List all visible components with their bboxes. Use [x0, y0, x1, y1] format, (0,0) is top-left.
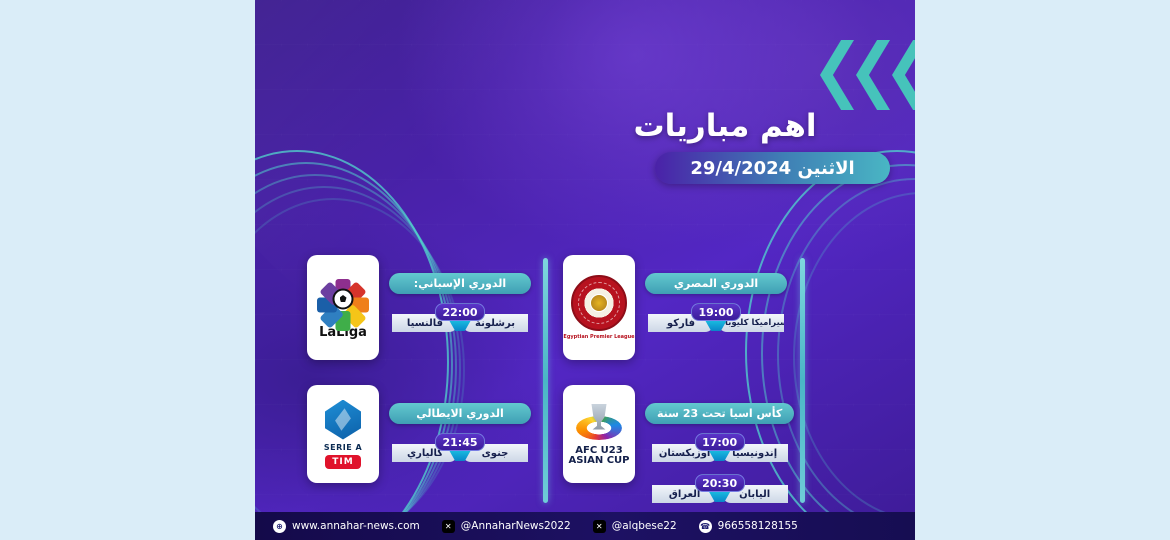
match-block-serie-a: الدوري الايطالي 21:45 جنوى كالياري — [389, 385, 531, 463]
match-block-laliga: الدوري الإسباني: 22:00 برشلونة فالنسيا — [389, 255, 531, 333]
match-time: 17:00 — [695, 433, 745, 451]
chevron-left-decoration — [820, 40, 915, 110]
x-twitter-icon: ✕ — [593, 520, 606, 533]
twitter-handle-1: @AnnaharNews2022 — [461, 520, 571, 532]
match-time: 22:00 — [435, 303, 485, 321]
twitter-handle-2: @alqbese22 — [612, 520, 677, 532]
afc-trophy-icon — [574, 402, 624, 446]
column-divider-right — [800, 258, 805, 503]
match-block-afc-u23: كأس اسيا تحت 23 سنة 17:00 إندونيسيا اوزب… — [645, 385, 794, 504]
league-group-egypt: Egyptian Premier League الدوري المصري 19… — [563, 255, 787, 360]
footer-bar: ⊕ www.annahar-news.com ✕ @AnnaharNews202… — [255, 512, 915, 540]
league-group-laliga: LaLiga الدوري الإسباني: 22:00 برشلونة فا… — [307, 255, 531, 360]
league-name-afc-u23: كأس اسيا تحت 23 سنة — [645, 403, 794, 424]
serie-a-sponsor: TIM — [325, 455, 360, 469]
league-group-afc-u23: AFC U23 ASIAN CUP كأس اسيا تحت 23 سنة 17… — [563, 385, 794, 504]
football-icon — [333, 288, 354, 309]
match-row[interactable]: 22:00 برشلونة فالنسيا — [392, 303, 528, 333]
screenshot-stage: النهار صحيفة النهار المصرية اهم مباريات … — [0, 0, 1170, 540]
match-row[interactable]: 19:00 سيراميكا كليوباترا فاركو — [648, 303, 784, 333]
laliga-pinwheel-icon — [320, 276, 366, 322]
afc-u23-asian-cup-logo[interactable]: AFC U23 ASIAN CUP — [563, 385, 635, 483]
match-row[interactable]: 20:30 اليابان العراق — [652, 474, 788, 504]
match-time: 19:00 — [691, 303, 741, 321]
league-name-egypt: الدوري المصري — [645, 273, 787, 294]
match-poster: النهار صحيفة النهار المصرية اهم مباريات … — [255, 0, 915, 540]
footer-twitter-1[interactable]: ✕ @AnnaharNews2022 — [442, 520, 571, 533]
egypt-league-wordmark: Egyptian Premier League — [563, 334, 634, 340]
whatsapp-number: 966558128155 — [718, 520, 798, 532]
match-time: 20:30 — [695, 474, 745, 492]
league-name-laliga: الدوري الإسباني: — [389, 273, 531, 294]
match-block-egypt: الدوري المصري 19:00 سيراميكا كليوباترا ف… — [645, 255, 787, 333]
column-divider-middle — [543, 258, 548, 503]
whatsapp-icon: ☎ — [699, 520, 712, 533]
footer-twitter-2[interactable]: ✕ @alqbese22 — [593, 520, 677, 533]
footer-whatsapp[interactable]: ☎ 966558128155 — [699, 520, 798, 533]
globe-icon: ⊕ — [273, 520, 286, 533]
egyptian-premier-league-logo[interactable]: Egyptian Premier League — [563, 255, 635, 360]
egypt-crest-icon — [571, 275, 627, 331]
laliga-logo[interactable]: LaLiga — [307, 255, 379, 360]
date-badge: الاثنين 29/4/2024 — [655, 152, 890, 184]
serie-a-wordmark: SERIE A — [324, 443, 362, 452]
league-group-serie-a: SERIE A TIM الدوري الايطالي 21:45 جنوى ك… — [307, 385, 531, 483]
website-url: www.annahar-news.com — [292, 520, 420, 532]
serie-a-logo[interactable]: SERIE A TIM — [307, 385, 379, 483]
match-time: 21:45 — [435, 433, 485, 451]
crest-ring — [578, 282, 620, 324]
serie-a-shield-icon — [325, 400, 361, 440]
match-row[interactable]: 21:45 جنوى كالياري — [392, 433, 528, 463]
footer-website[interactable]: ⊕ www.annahar-news.com — [273, 520, 420, 533]
match-row[interactable]: 17:00 إندونيسيا اوزبكستان — [652, 433, 788, 463]
x-twitter-icon: ✕ — [442, 520, 455, 533]
page-title: اهم مباريات — [560, 108, 890, 144]
league-name-serie-a: الدوري الايطالي — [389, 403, 531, 424]
afc-wordmark-line2: ASIAN CUP — [568, 456, 629, 467]
